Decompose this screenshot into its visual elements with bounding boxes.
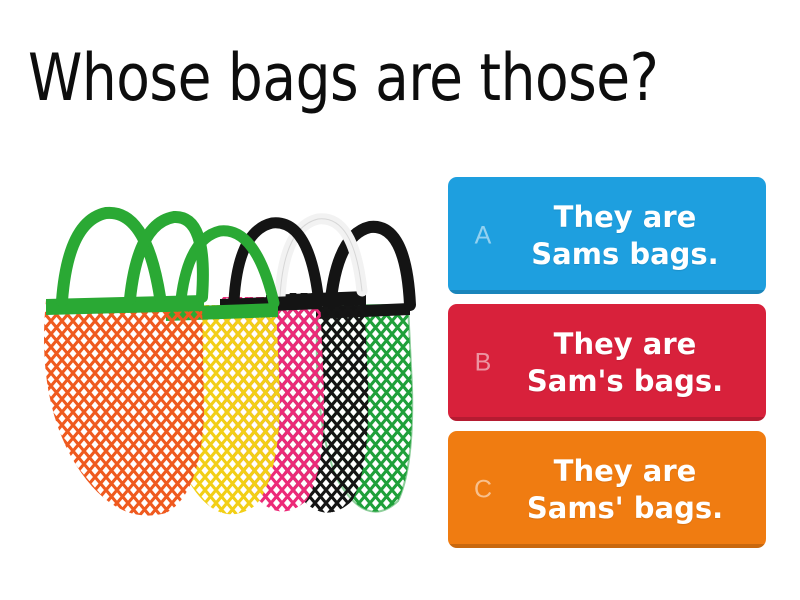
answer-letter-b: B xyxy=(466,350,500,375)
answer-option-b[interactable]: B They are Sam's bags. xyxy=(448,304,766,421)
answer-letter-a: A xyxy=(466,223,500,248)
bags-photo xyxy=(18,165,428,565)
question-image xyxy=(18,165,428,565)
quiz-slide: Whose bags are those? xyxy=(0,0,800,600)
answer-option-a[interactable]: A They are Sams bags. xyxy=(448,177,766,294)
page-title: Whose bags are those? xyxy=(28,38,731,120)
answer-option-c[interactable]: C They are Sams' bags. xyxy=(448,431,766,548)
answer-letter-c: C xyxy=(466,477,500,502)
answer-options-list: A They are Sams bags. B They are Sam's b… xyxy=(448,177,766,558)
